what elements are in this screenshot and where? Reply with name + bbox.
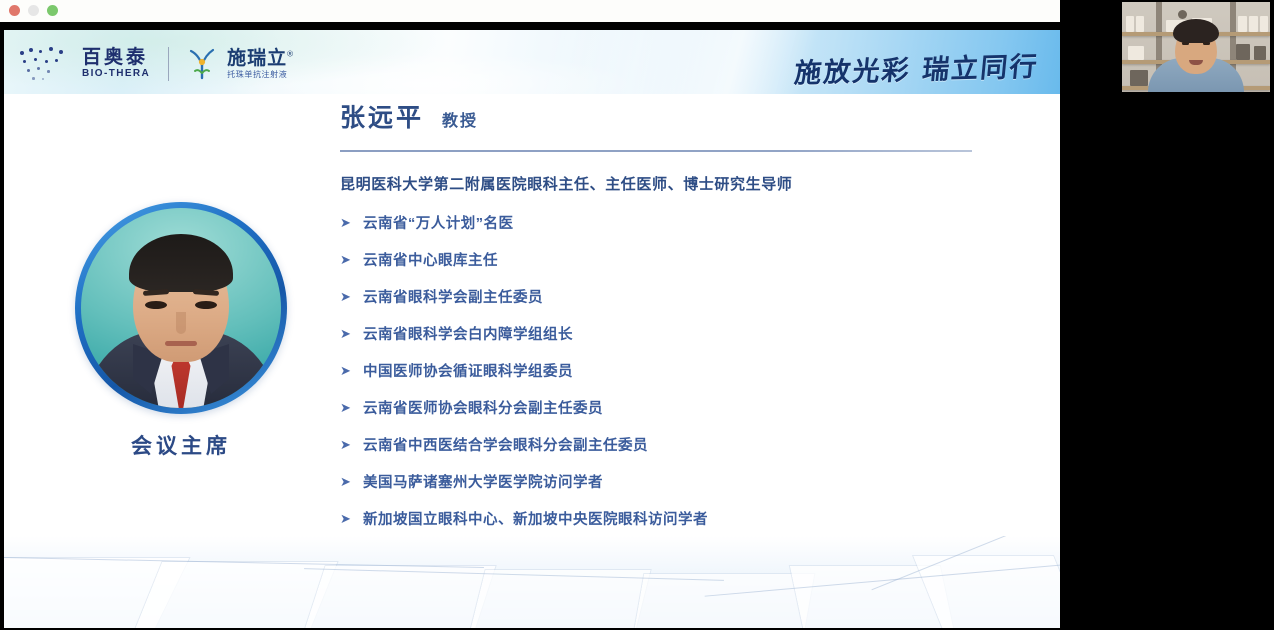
product-name-text: 施瑞立 (227, 48, 287, 69)
arrow-right-icon: ➤ (340, 364, 357, 377)
arrow-right-icon: ➤ (340, 216, 357, 229)
tree-icon (187, 47, 217, 81)
credential-text: 云南省中西医结合学会眼科分会副主任委员 (363, 434, 648, 455)
shelf-book (1238, 16, 1247, 32)
registered-mark: ® (287, 50, 294, 59)
portrait-ring (75, 202, 287, 414)
credential-item: ➤云南省眼科学会副主任委员 (340, 286, 980, 307)
company-name-cn: 百奥泰 (82, 48, 150, 68)
shelf-object (1130, 70, 1148, 86)
credential-text: 新加坡国立眼科中心、新加坡中央医院眼科访问学者 (363, 508, 708, 529)
speaker-rank: 教授 (442, 107, 478, 131)
credential-item: ➤云南省中西医结合学会眼科分会副主任委员 (340, 434, 980, 455)
credential-item: ➤中国医师协会循证眼科学组委员 (340, 360, 980, 381)
shelf-object (1236, 44, 1250, 60)
company-name-block: 百奥泰 BIO-THERA (82, 48, 150, 79)
window-title-bar (0, 0, 1060, 22)
arrow-right-icon: ➤ (340, 438, 357, 451)
credential-text: 美国马萨诸塞州大学医学院访问学者 (363, 471, 603, 492)
arrow-right-icon: ➤ (340, 327, 357, 340)
arrow-right-icon: ➤ (340, 401, 357, 414)
speaker-name-row: 张远平 教授 (340, 98, 980, 134)
person-hair (1173, 19, 1219, 43)
shelf-box (1128, 46, 1144, 60)
credential-text: 云南省中心眼库主任 (363, 249, 498, 270)
logo-divider (168, 47, 169, 81)
nose-shape (176, 312, 186, 334)
webcam-video-tile[interactable] (1122, 2, 1270, 92)
eye-left (145, 301, 167, 309)
credential-text: 中国医师协会循证眼科学组委员 (363, 360, 573, 381)
person-eye-right (1203, 42, 1210, 45)
eye-right (195, 301, 217, 309)
credential-text: 云南省“万人计划”名医 (363, 212, 514, 233)
presentation-slide: 百奥泰 BIO-THERA 施瑞立® 托珠单抗注射液 施放光彩 瑞立同行 (4, 30, 1060, 628)
credential-text: 云南省眼科学会副主任委员 (363, 286, 543, 307)
shelf-book (1126, 16, 1134, 32)
arrow-right-icon: ➤ (340, 512, 357, 525)
brand-logo: 百奥泰 BIO-THERA 施瑞立® 托珠单抗注射液 (18, 42, 294, 86)
close-button[interactable] (9, 5, 20, 16)
speaker-title: 昆明医科大学第二附属医院眼科主任、主任医师、博士研究生导师 (340, 173, 980, 194)
minimize-button[interactable] (28, 5, 39, 16)
bottom-decoration (4, 536, 1060, 628)
credential-text: 云南省眼科学会白内障学组组长 (363, 323, 573, 344)
credential-item: ➤美国马萨诸塞州大学医学院访问学者 (340, 471, 980, 492)
shelf-book (1249, 16, 1258, 32)
speaker-name: 张远平 (340, 98, 424, 134)
credential-list: ➤云南省“万人计划”名医➤云南省中心眼库主任➤云南省眼科学会副主任委员➤云南省眼… (340, 212, 980, 529)
speaker-photo (81, 208, 281, 408)
mouth-shape (165, 341, 197, 346)
portrait-caption: 会议主席 (62, 430, 300, 460)
product-name-cn: 施瑞立® (227, 49, 294, 69)
credential-item: ➤新加坡国立眼科中心、新加坡中央医院眼科访问学者 (340, 508, 980, 529)
maximize-button[interactable] (47, 5, 58, 16)
credential-item: ➤云南省中心眼库主任 (340, 249, 980, 270)
credential-item: ➤云南省“万人计划”名医 (340, 212, 980, 233)
shelf-book (1260, 16, 1268, 32)
arrow-right-icon: ➤ (340, 253, 357, 266)
product-subtitle: 托珠单抗注射液 (227, 71, 294, 79)
shelf-object (1254, 46, 1266, 60)
dot-cluster-icon (18, 45, 72, 83)
credential-item: ➤云南省眼科学会白内障学组组长 (340, 323, 980, 344)
shelf-clock (1178, 10, 1187, 19)
credential-text: 云南省医师协会眼科分会副主任委员 (363, 397, 603, 418)
section-divider (340, 150, 972, 152)
hair-shape (129, 234, 233, 292)
shelf-book (1136, 16, 1144, 32)
slogan-calligraphy: 施放光彩 瑞立同行 (792, 45, 1040, 91)
person-eye-left (1182, 42, 1189, 45)
credential-item: ➤云南省医师协会眼科分会副主任委员 (340, 397, 980, 418)
speaker-portrait-block: 会议主席 (62, 202, 300, 460)
arrow-right-icon: ➤ (340, 290, 357, 303)
window-controls (9, 5, 58, 16)
product-name-block: 施瑞立® 托珠单抗注射液 (227, 49, 294, 79)
arrow-right-icon: ➤ (340, 475, 357, 488)
speaker-info-block: 张远平 教授 昆明医科大学第二附属医院眼科主任、主任医师、博士研究生导师 ➤云南… (340, 98, 980, 545)
company-name-en: BIO-THERA (82, 69, 150, 80)
